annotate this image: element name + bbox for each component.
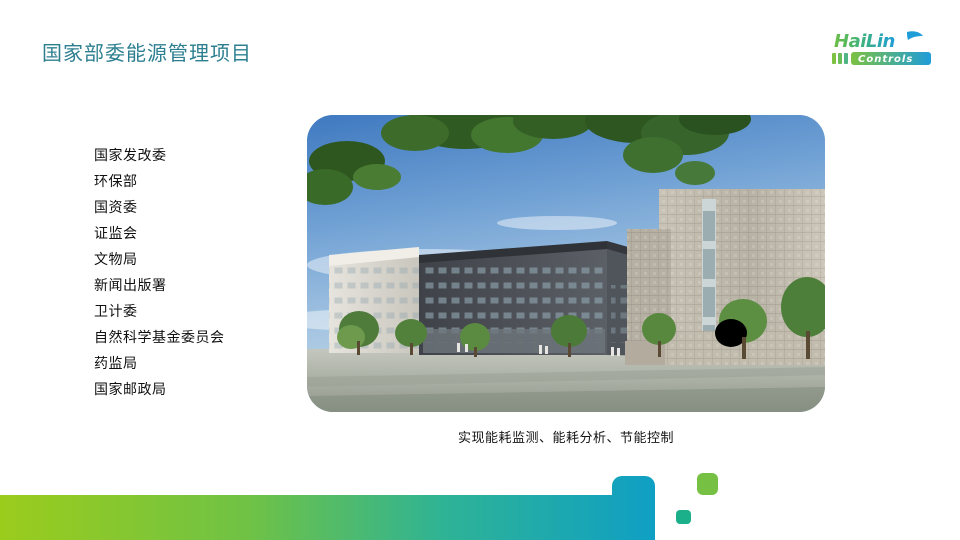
page-title: 国家部委能源管理项目 xyxy=(42,40,252,66)
logo-leaf-icon xyxy=(907,31,923,40)
list-item: 新闻出版署 xyxy=(94,273,294,299)
logo-wordmark-text: HaiLin xyxy=(834,31,895,52)
list-item: 自然科学基金委员会 xyxy=(94,325,294,351)
project-building-photo xyxy=(307,115,825,412)
list-item: 文物局 xyxy=(94,247,294,273)
band-main-shape xyxy=(0,476,655,540)
svg-text:HaiLin: HaiLin xyxy=(834,31,895,52)
list-item: 环保部 xyxy=(94,169,294,195)
decorative-gradient-band xyxy=(0,460,960,540)
logo-bars-icon xyxy=(832,53,848,64)
accent-square-teal xyxy=(676,510,691,524)
brand-logo: HaiLin Controls xyxy=(828,28,938,70)
svg-text:Controls: Controls xyxy=(858,54,913,65)
list-item: 药监局 xyxy=(94,351,294,377)
list-item: 国资委 xyxy=(94,195,294,221)
agency-list: 国家发改委 环保部 国资委 证监会 文物局 新闻出版署 卫计委 自然科学基金委员… xyxy=(94,143,294,403)
accent-square-green xyxy=(697,473,718,495)
list-item: 卫计委 xyxy=(94,299,294,325)
list-item: 国家邮政局 xyxy=(94,377,294,403)
list-item: 证监会 xyxy=(94,221,294,247)
photo-caption: 实现能耗监测、能耗分析、节能控制 xyxy=(307,427,825,446)
list-item: 国家发改委 xyxy=(94,143,294,169)
logo-tagline: Controls xyxy=(851,52,931,65)
